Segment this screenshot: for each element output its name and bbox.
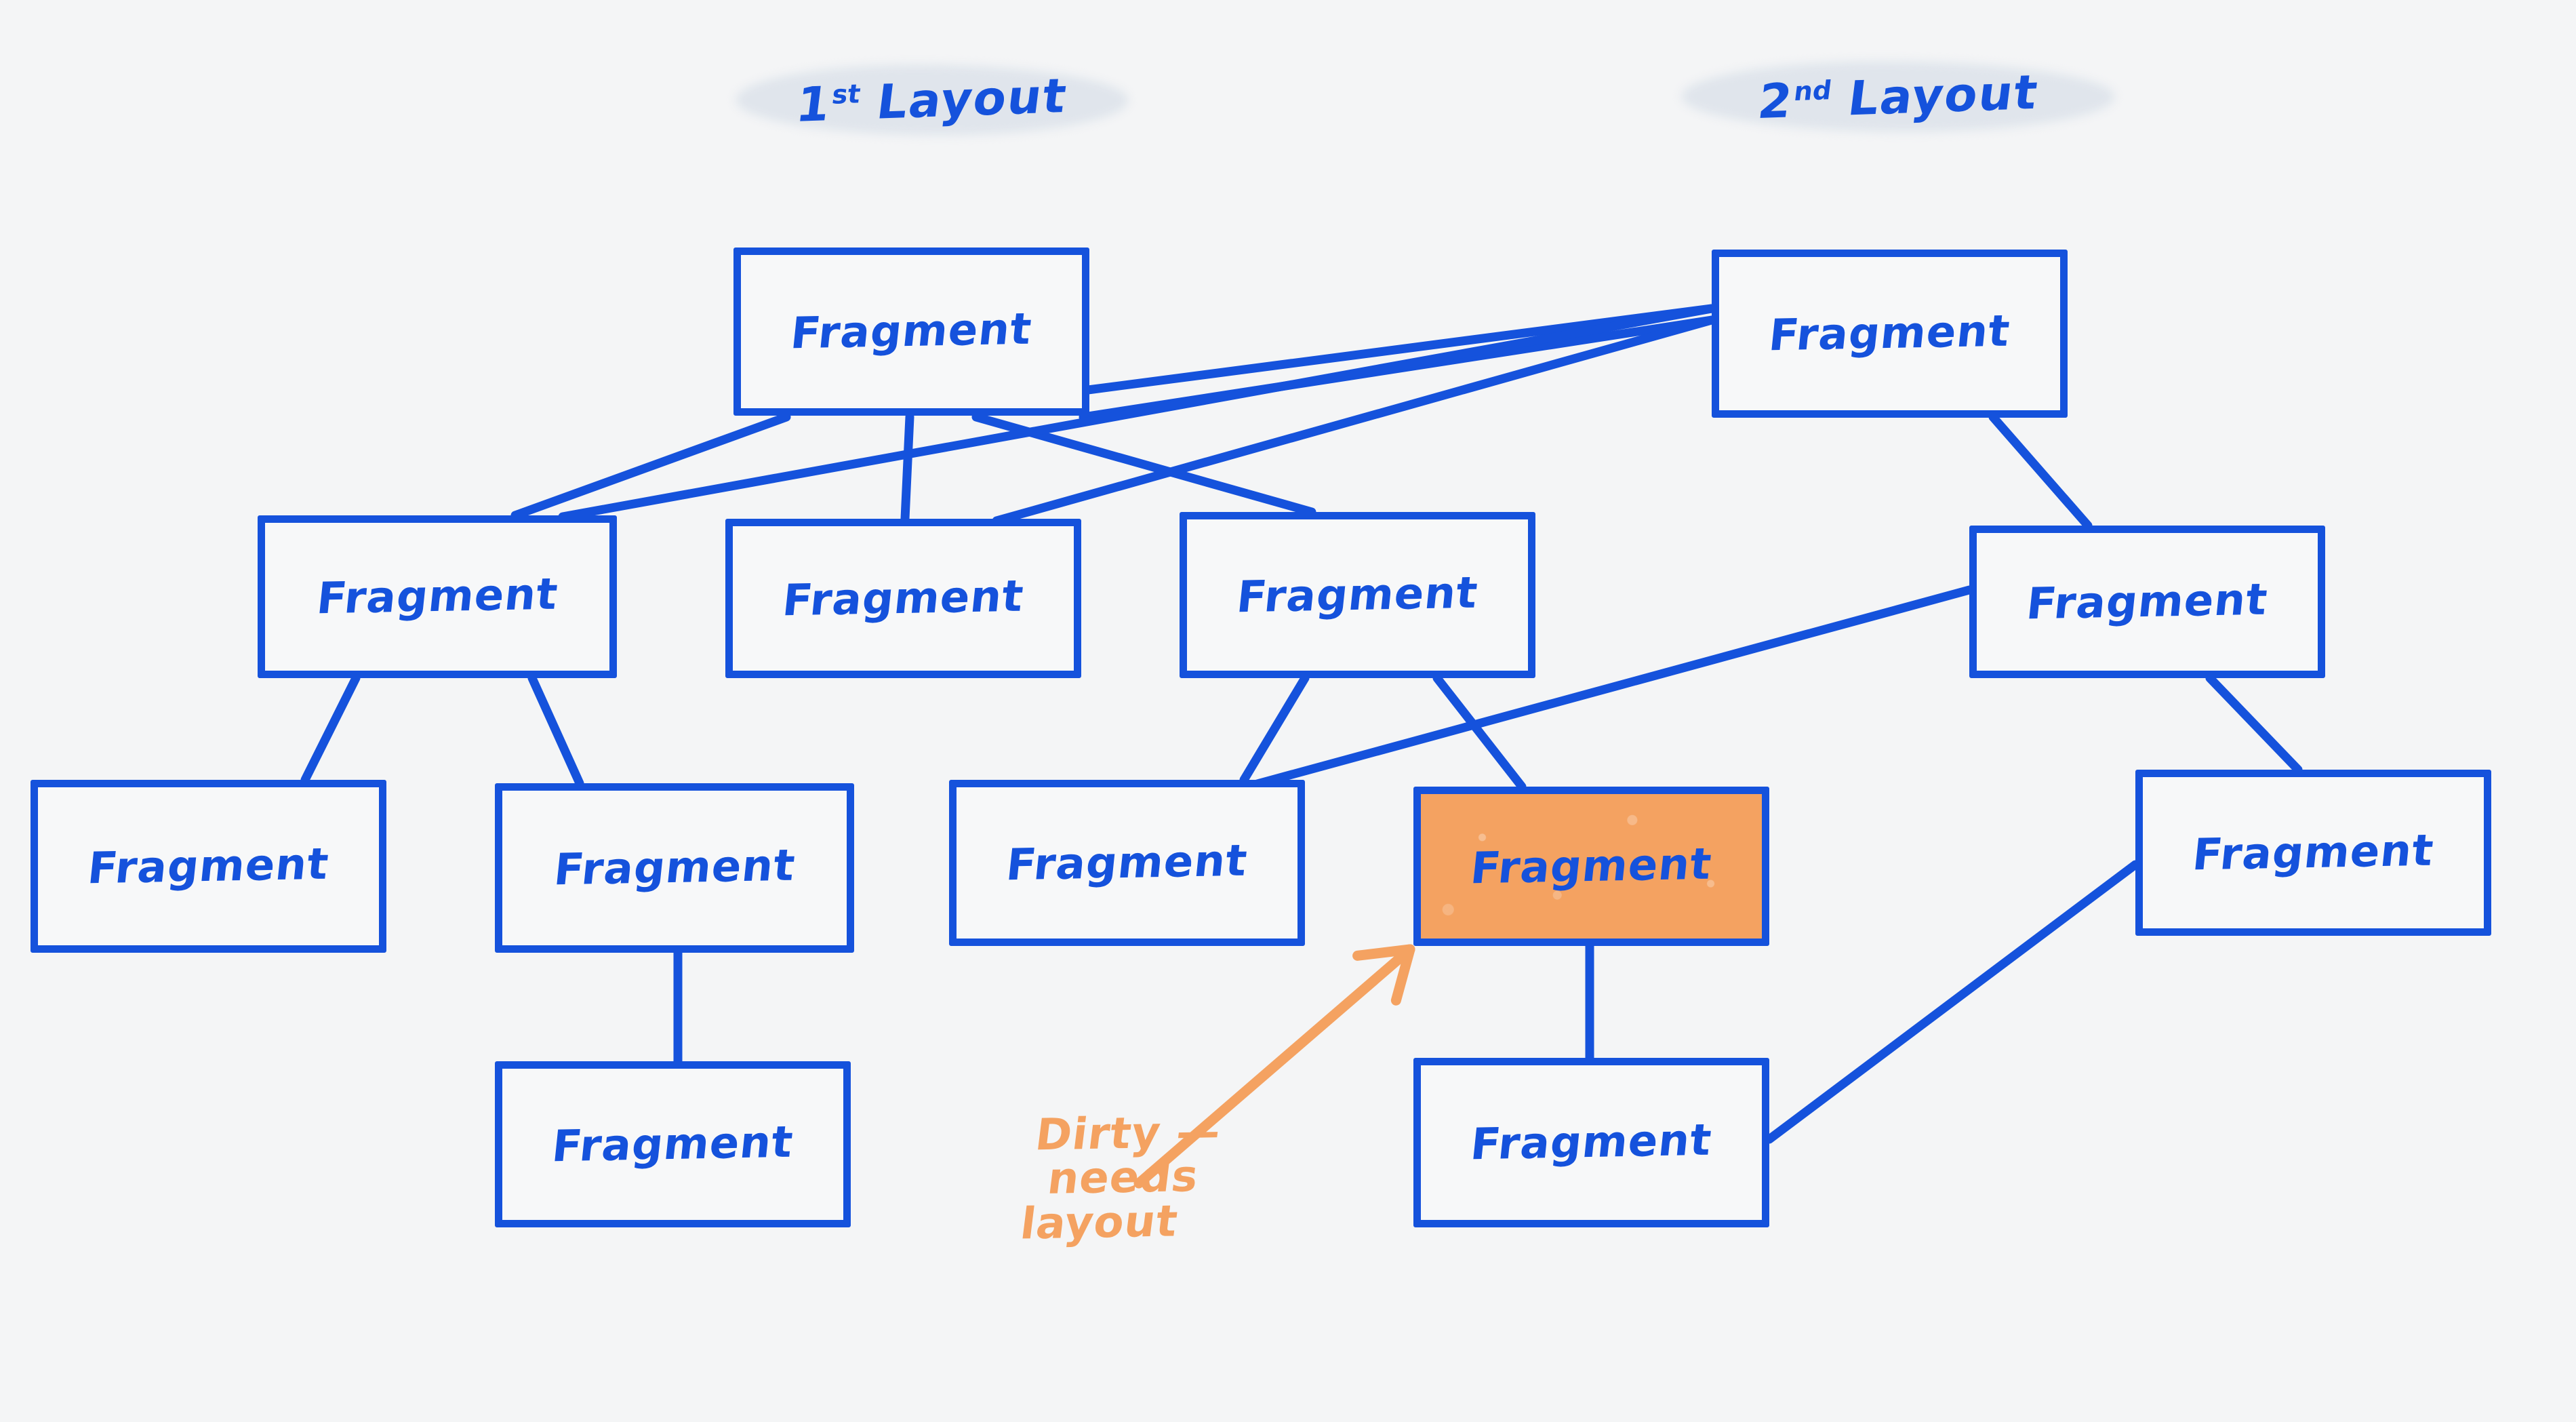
fragment-node[interactable]: Fragment <box>1413 1058 1769 1227</box>
title-2nd-layout-label: 2nd Layout <box>1755 64 2042 129</box>
arrow-head-b <box>1358 949 1410 955</box>
edge-line <box>1083 320 1712 417</box>
edge-line <box>1993 417 2088 526</box>
edge-line <box>1769 865 2135 1139</box>
edge-line <box>2210 678 2298 770</box>
fragment-node[interactable]: Fragment <box>725 519 1081 678</box>
fragment-node-label: Fragment <box>788 304 1034 359</box>
edge-line <box>1244 678 1305 780</box>
edge-line <box>532 678 580 783</box>
fragment-node-label: Fragment <box>2024 574 2270 629</box>
fragment-node[interactable]: Fragment <box>495 1061 851 1227</box>
title-2nd-layout: 2nd Layout <box>1681 61 2115 132</box>
fragment-node-label: Fragment <box>552 841 798 896</box>
edge-line <box>905 417 910 519</box>
arrow-head-a <box>1396 949 1410 1000</box>
edge-line <box>305 678 356 780</box>
diagram-canvas: 1st Layout 2nd Layout FragmentFragmentFr… <box>0 0 2576 1422</box>
annotation-line-1: Dirty — <box>1033 1111 1224 1158</box>
fragment-node[interactable]: Fragment <box>1969 526 2325 678</box>
annotation-line-2: needs <box>1045 1155 1218 1202</box>
edge-line <box>1088 309 1712 390</box>
fragment-node[interactable]: Fragment <box>258 515 617 678</box>
fragment-node[interactable]: Fragment <box>495 783 854 953</box>
fragment-node-label: Fragment <box>1767 307 2013 361</box>
edge-layer <box>0 0 2576 1422</box>
fragment-node-dirty[interactable]: Fragment <box>1413 787 1769 946</box>
fragment-node[interactable]: Fragment <box>949 780 1305 946</box>
fragment-node[interactable]: Fragment <box>1712 250 2068 418</box>
edge-line <box>997 320 1712 521</box>
fragment-node[interactable]: Fragment <box>733 248 1089 416</box>
edge-line <box>515 417 786 515</box>
fragment-node-label: Fragment <box>1004 835 1250 890</box>
fragment-node[interactable]: Fragment <box>2135 770 2491 936</box>
edge-line <box>976 417 1312 512</box>
title-1st-layout: 1st Layout <box>736 64 1129 136</box>
annotation-line-3: layout <box>1018 1199 1213 1246</box>
edge-line <box>1437 678 1522 787</box>
fragment-node-label: Fragment <box>550 1117 796 1172</box>
title-1st-layout-label: 1st Layout <box>793 68 1070 133</box>
fragment-node[interactable]: Fragment <box>1180 512 1535 678</box>
fragment-node-label: Fragment <box>1468 839 1714 894</box>
fragment-node-label: Fragment <box>1234 568 1481 623</box>
fragment-node-label: Fragment <box>85 839 331 894</box>
fragment-node-label: Fragment <box>780 571 1026 626</box>
fragment-node[interactable]: Fragment <box>31 780 386 953</box>
fragment-node-label: Fragment <box>1468 1115 1714 1170</box>
dirty-annotation: Dirty — needs layout <box>1022 1111 1224 1247</box>
fragment-node-label: Fragment <box>315 570 561 625</box>
fragment-node-label: Fragment <box>2190 825 2436 880</box>
